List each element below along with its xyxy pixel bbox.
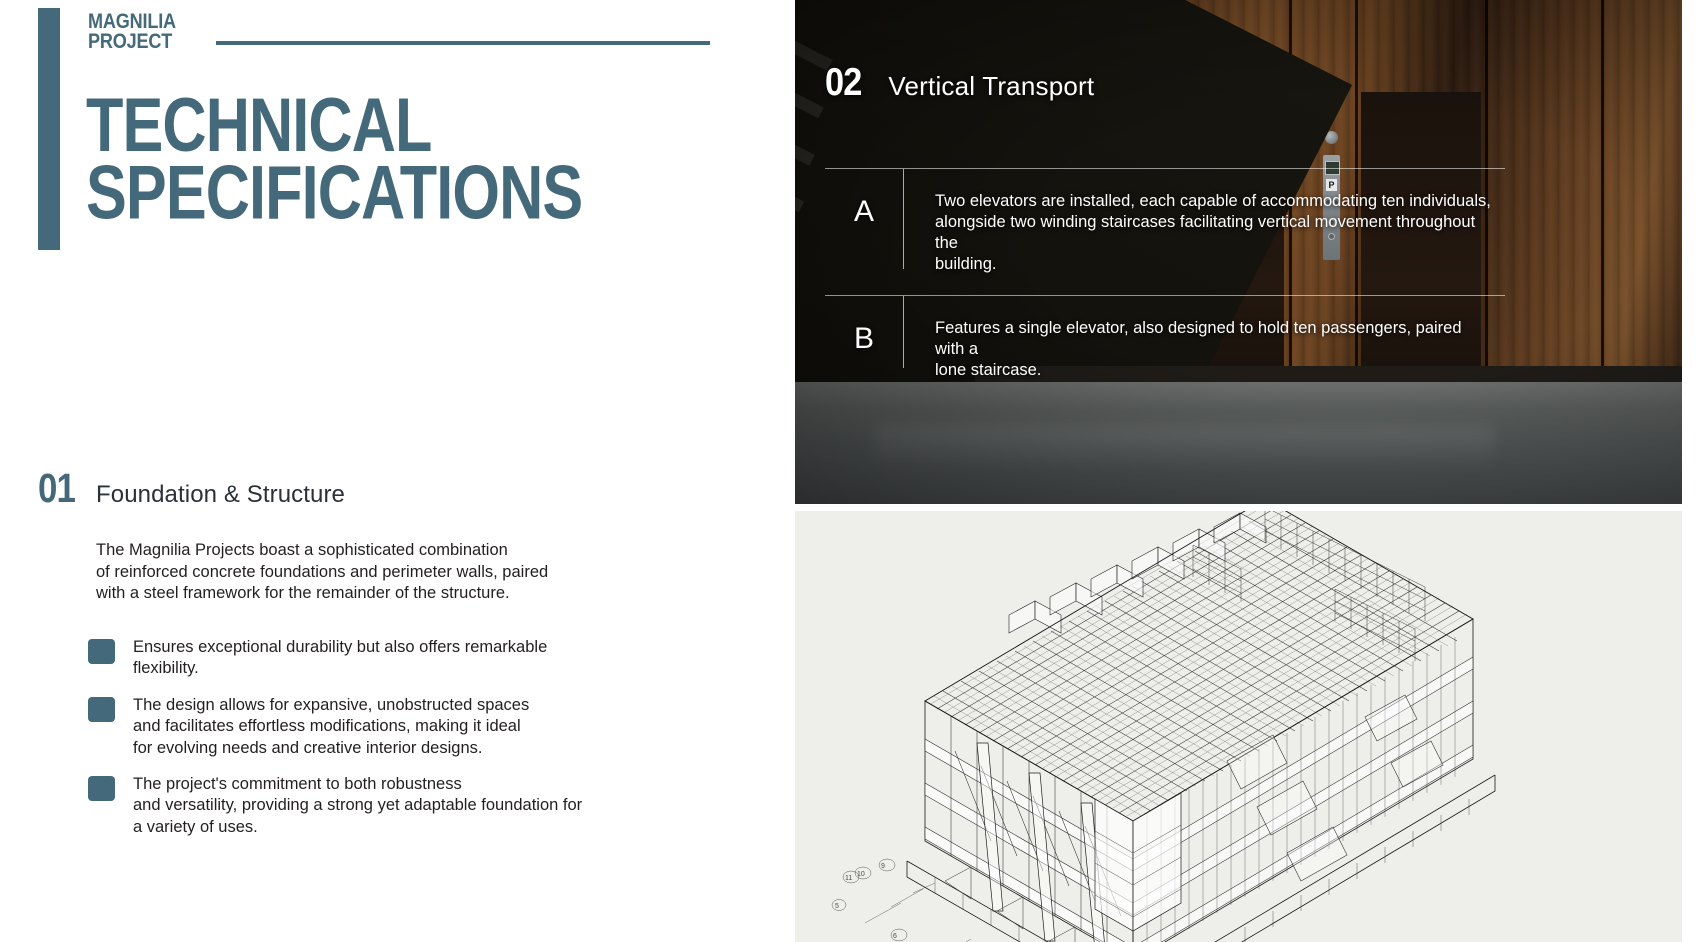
building-wireframe-drawing: 9 10 11 5 6 E F [795, 511, 1682, 942]
list-item-text: The design allows for expansive, unobstr… [133, 695, 583, 759]
item-letter: A [825, 169, 903, 229]
section-foundation-structure: 01 Foundation & Structure The Magnilia P… [38, 468, 698, 853]
grid-label: 5 [835, 903, 839, 910]
bullet-line: Ensures exceptional durability but also … [133, 637, 583, 658]
item-line: building. [935, 254, 1495, 275]
item-line: Two elevators are installed, each capabl… [935, 191, 1495, 212]
paragraph-line: of reinforced concrete foundations and p… [96, 562, 566, 584]
item-letter: B [825, 296, 903, 356]
section-two-header: 02 Vertical Transport [825, 63, 1094, 102]
grid-label: 6 [893, 933, 897, 940]
item-divider [903, 296, 904, 368]
vertical-transport-list: A Two elevators are installed, each capa… [825, 168, 1505, 381]
list-item: B Features a single elevator, also desig… [825, 295, 1505, 381]
bullet-line: and versatility, providing a strong yet … [133, 795, 583, 816]
brand-line-2: PROJECT [88, 32, 208, 52]
list-item: A Two elevators are installed, each capa… [825, 168, 1505, 287]
section-one-number: 01 [38, 468, 75, 509]
section-one-bullet-list: Ensures exceptional durability but also … [88, 637, 698, 839]
section-two-title: Vertical Transport [888, 71, 1094, 102]
bullet-line: The project's commitment to both robustn… [133, 774, 583, 795]
section-one-title: Foundation & Structure [96, 481, 345, 509]
bullet-line: a variety of uses. [133, 817, 583, 838]
bullet-line: for evolving needs and creative interior… [133, 738, 583, 759]
item-text: Features a single elevator, also designe… [935, 296, 1495, 381]
brand-logo: MAGNILIA PROJECT [88, 12, 208, 52]
bullet-square-icon [88, 776, 115, 801]
bullet-line: flexibility. [133, 658, 583, 679]
item-divider [903, 169, 904, 269]
section-one-header: 01 Foundation & Structure [38, 468, 698, 509]
page-title-line-2: SPECIFICATIONS [86, 160, 582, 227]
list-item-text: Ensures exceptional durability but also … [133, 637, 583, 680]
item-line: alongside two winding staircases facilit… [935, 212, 1495, 254]
grid-label: 9 [881, 863, 885, 870]
list-item: The design allows for expansive, unobstr… [88, 695, 698, 759]
page-title: TECHNICAL SPECIFICATIONS [86, 93, 582, 227]
paragraph-line: The Magnilia Projects boast a sophistica… [96, 540, 566, 562]
isometric-wireframe-svg: 9 10 11 5 6 E F [795, 511, 1682, 942]
paragraph-line: with a steel framework for the remainder… [96, 583, 566, 605]
bullet-line: and facilitates effortless modifications… [133, 716, 583, 737]
bullet-square-icon [88, 639, 115, 664]
accent-bar [38, 8, 60, 250]
list-item-text: The project's commitment to both robustn… [133, 774, 583, 838]
item-line: lone staircase. [935, 360, 1495, 381]
grid-label: 10 [857, 871, 865, 878]
item-text: Two elevators are installed, each capabl… [935, 169, 1495, 275]
elevator-lobby-photo: P 02 Vertical Transport A [795, 0, 1682, 504]
slide-root: MAGNILIA PROJECT TECHNICAL SPECIFICATION… [0, 0, 1702, 942]
bullet-square-icon [88, 697, 115, 722]
grid-label: 11 [845, 875, 852, 882]
list-item: Ensures exceptional durability but also … [88, 637, 698, 680]
item-line: Features a single elevator, also designe… [935, 318, 1495, 360]
section-one-paragraph: The Magnilia Projects boast a sophistica… [96, 540, 566, 605]
list-item: The project's commitment to both robustn… [88, 774, 698, 838]
header-rule [216, 41, 710, 45]
section-two-number: 02 [825, 63, 861, 102]
bullet-line: The design allows for expansive, unobstr… [133, 695, 583, 716]
